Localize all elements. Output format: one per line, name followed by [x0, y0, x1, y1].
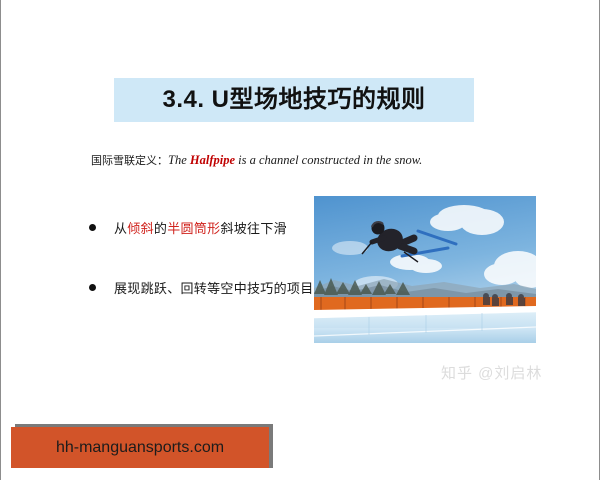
bullet-1-seg-1: 倾斜 [127, 221, 154, 236]
bullet-1-seg-3: 半圆筒形 [167, 221, 220, 236]
bullet-1-seg-0: 从 [114, 221, 127, 236]
definition-en-before: The [168, 153, 190, 167]
definition-highlight-term: Halfpipe [190, 153, 235, 167]
definition-line: 国际雪联定义：The Halfpipe is a channel constru… [91, 152, 422, 168]
bullet-dot-icon [89, 284, 96, 291]
bullet-1-seg-2: 的 [154, 221, 167, 236]
halfpipe-photo-illustration [314, 196, 536, 343]
definition-label: 国际雪联定义： [91, 155, 168, 167]
page-title: 3.4. U型场地技巧的规则 [114, 78, 474, 122]
zhihu-watermark: 知乎 @刘启林 [441, 362, 542, 383]
bullet-item-1: 从倾斜的半圆筒形斜坡往下滑 [89, 218, 287, 237]
bullet-1-seg-4: 斜坡往下滑 [220, 221, 287, 236]
site-banner-label: hh-manguansports.com [11, 427, 269, 468]
halfpipe-photo [314, 196, 536, 343]
bullet-item-2: 展现跳跃、回转等空中技巧的项目 [89, 278, 314, 297]
slide-canvas: 3.4. U型场地技巧的规则 国际雪联定义：The Halfpipe is a … [0, 0, 600, 480]
bullet-text-1: 从倾斜的半圆筒形斜坡往下滑 [114, 218, 287, 237]
definition-en-after: is a channel constructed in the snow. [235, 153, 422, 167]
bullet-text-2: 展现跳跃、回转等空中技巧的项目 [114, 278, 314, 297]
bullet-dot-icon [89, 224, 96, 231]
